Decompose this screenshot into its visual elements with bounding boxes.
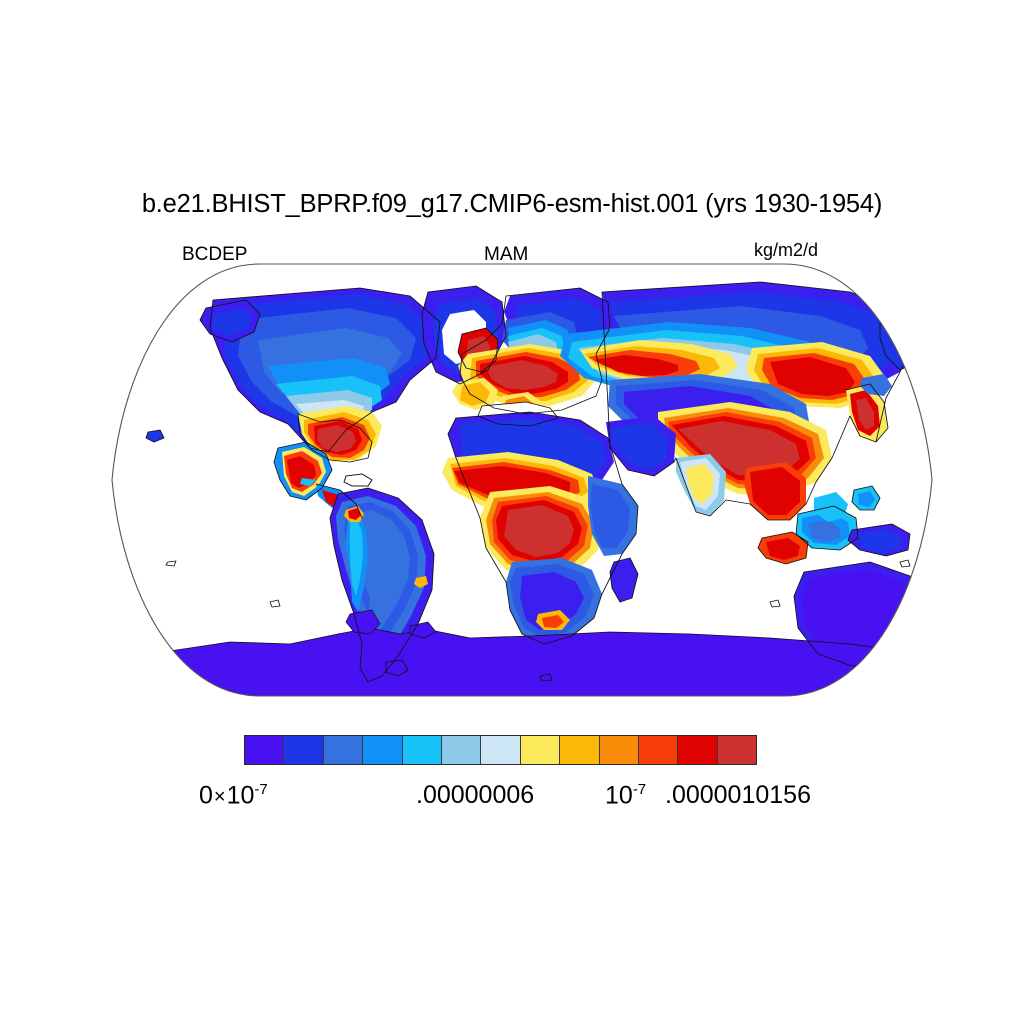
colorbar-segment-7[interactable] (481, 736, 520, 764)
map-data-layer (110, 282, 934, 698)
page-title: b.e21.BHIST_BPRP.f09_g17.CMIP6-esm-hist.… (0, 190, 1024, 219)
colorbar-segment-2[interactable] (284, 736, 323, 764)
colorbar-max-label: .0000010156 (665, 781, 811, 810)
colorbar-min-value: 0 (199, 781, 213, 809)
colorbar-segment-12[interactable] (678, 736, 717, 764)
units-label: kg/m2/d (754, 240, 818, 261)
multiply-icon: × (213, 786, 227, 808)
colorbar-segment-10[interactable] (600, 736, 639, 764)
colorbar-min-exponent: -7 (254, 781, 267, 798)
colorbar-segment-5[interactable] (403, 736, 442, 764)
colorbar-exp-base: 10 (605, 781, 633, 809)
colorbar-mid-label: .00000006 (416, 781, 534, 810)
colorbar-segment-1[interactable] (245, 736, 284, 764)
colorbar-segment-9[interactable] (560, 736, 599, 764)
colorbar-segment-13[interactable] (718, 736, 756, 764)
region-africa (442, 412, 638, 644)
colorbar-segment-6[interactable] (442, 736, 481, 764)
colorbar-segment-3[interactable] (324, 736, 363, 764)
figure-canvas: b.e21.BHIST_BPRP.f09_g17.CMIP6-esm-hist.… (0, 0, 1024, 1024)
colorbar-min-base: 10 (227, 781, 255, 809)
map-svg (110, 262, 934, 698)
colorbar-min-label: 0×10-7 (199, 781, 268, 810)
colorbar-exp-exponent: -7 (633, 781, 646, 798)
colorbar-segment-8[interactable] (521, 736, 560, 764)
colorbar[interactable] (244, 735, 757, 765)
colorbar-exponent-label: 10-7 (605, 781, 646, 810)
world-map (110, 262, 934, 698)
colorbar-segment-11[interactable] (639, 736, 678, 764)
colorbar-segment-4[interactable] (363, 736, 402, 764)
